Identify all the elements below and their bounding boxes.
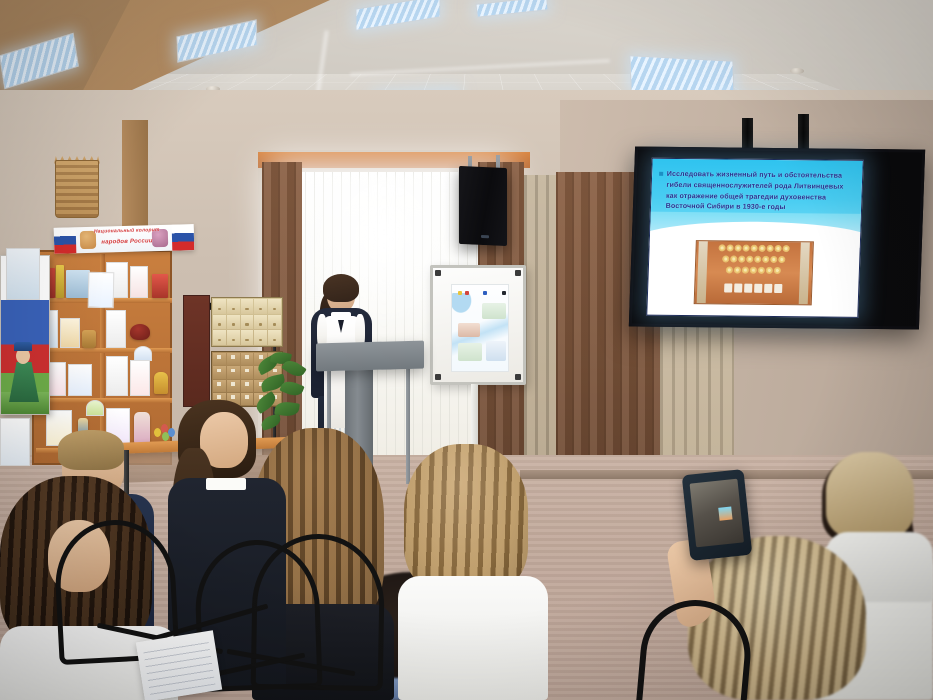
magnet-icon[interactable] — [502, 291, 506, 295]
catalog-drawer[interactable] — [213, 380, 226, 392]
catalog-drawer[interactable] — [213, 353, 226, 365]
smartphone[interactable] — [682, 469, 753, 561]
catalog-drawer[interactable] — [227, 330, 240, 345]
saint-halo-icon — [783, 245, 790, 252]
poster-girl-hat — [14, 342, 32, 351]
catalog-drawer[interactable] — [213, 366, 226, 378]
decor-egg — [154, 428, 161, 437]
phone-screen-preview-tv — [719, 506, 733, 520]
saint-halo-icon — [751, 245, 758, 252]
catalog-drawer[interactable] — [227, 353, 240, 365]
tv-screen: Исследовать жизненный путь и обстоятельс… — [646, 158, 864, 318]
display-fan — [86, 400, 104, 416]
whiteboard-poster — [451, 284, 509, 372]
display-book — [56, 265, 64, 298]
phone-screen — [690, 479, 744, 548]
magnet-icon[interactable] — [483, 291, 487, 295]
display-leaflet — [60, 318, 80, 348]
catalog-drawer[interactable] — [268, 315, 281, 330]
saint-halo-icon — [743, 245, 750, 252]
whiteboard-corner — [435, 270, 441, 276]
poster-church-icon — [486, 341, 506, 361]
presentation-room-scene: Исследовать жизненный путь и обстоятельс… — [0, 0, 933, 700]
hair — [826, 452, 914, 538]
icon-tunic — [744, 284, 752, 293]
wall-leaflet — [6, 248, 40, 300]
saint-halo-icon — [775, 245, 782, 252]
whiteboard-corner — [515, 374, 521, 380]
whiteboard-corner — [515, 270, 521, 276]
catalog-drawer[interactable] — [227, 380, 240, 392]
saint-halo-icon — [719, 245, 726, 252]
saint-halo-icon — [750, 267, 757, 274]
notes-paper[interactable] — [136, 630, 222, 700]
slide-bullet-icon — [659, 172, 663, 176]
poster-church-icon — [458, 343, 482, 361]
wall-mounted-tv[interactable]: Исследовать жизненный путь и обстоятельс… — [629, 147, 925, 330]
catalog-drawer[interactable] — [213, 330, 226, 345]
display-leaflet — [106, 356, 128, 396]
audience-member — [398, 444, 548, 700]
display-book — [66, 270, 90, 298]
saint-halo-icon — [759, 245, 766, 252]
saint-halo-icon — [723, 255, 730, 262]
poster-girl-dress — [9, 362, 39, 402]
catalog-drawer[interactable] — [241, 330, 254, 345]
smoke-detector-icon — [790, 68, 804, 74]
dark-cabinet — [183, 295, 210, 407]
podium — [316, 341, 424, 372]
catalog-drawer[interactable] — [227, 366, 240, 378]
saint-halo-icon — [742, 267, 749, 274]
icon-tunic — [764, 284, 772, 293]
icon-tunic — [774, 284, 782, 293]
magnet-icon[interactable] — [458, 291, 462, 295]
poster-church-icon — [482, 303, 506, 319]
whiteboard[interactable] — [430, 265, 526, 385]
display-book — [82, 330, 96, 348]
display-leaflet — [106, 310, 126, 348]
russian-flag-icon — [54, 227, 77, 254]
saint-halo-icon — [735, 245, 742, 252]
whiteboard-corner — [435, 374, 441, 380]
shelf-poster — [88, 272, 115, 308]
saint-halo-icon — [767, 245, 774, 252]
icon-tunic — [734, 284, 742, 293]
display-teapot — [130, 324, 150, 340]
catalog-drawer[interactable] — [254, 299, 267, 314]
saint-halo-icon — [747, 255, 754, 262]
display-doll — [154, 372, 168, 394]
saint-halo-icon — [734, 266, 741, 273]
saint-halo-icon — [763, 256, 770, 263]
display-fan — [134, 346, 152, 361]
saint-halo-icon — [726, 266, 733, 273]
collar — [206, 478, 246, 490]
catalog-drawer[interactable] — [227, 299, 240, 314]
saint-halo-icon — [774, 267, 781, 274]
exhibit-banner: Национальный колорит народов России — [54, 224, 195, 254]
display-leaflet — [130, 266, 148, 298]
display-book — [152, 274, 168, 298]
saint-halo-icon — [727, 245, 734, 252]
icon-tunic-row — [695, 283, 811, 293]
saint-halo-icon — [771, 256, 778, 263]
catalog-drawer[interactable] — [227, 315, 240, 330]
ceiling-speaker — [459, 166, 507, 246]
catalog-drawer[interactable] — [241, 315, 254, 330]
icon-tunic — [754, 284, 762, 293]
catalog-drawer[interactable] — [213, 315, 226, 330]
catalog-drawer[interactable] — [268, 299, 281, 314]
presenter-hair — [323, 274, 359, 302]
catalog-drawer[interactable] — [254, 315, 267, 330]
icon-halo-row — [696, 266, 812, 274]
catalog-drawer[interactable] — [213, 299, 226, 314]
torso — [398, 576, 548, 700]
magnet-icon[interactable] — [465, 291, 469, 295]
russian-flag-icon — [172, 224, 195, 251]
saint-halo-icon — [758, 267, 765, 274]
catalog-upper-drawers — [211, 297, 283, 347]
saint-halo-icon — [739, 255, 746, 262]
display-leaflet — [130, 360, 150, 396]
saint-halo-icon — [731, 255, 738, 262]
saint-halo-icon — [779, 256, 786, 263]
catalog-drawer[interactable] — [254, 330, 267, 345]
slide-icon-image — [694, 240, 814, 305]
speaker-led-icon — [481, 235, 489, 238]
catalog-drawer[interactable] — [241, 380, 254, 392]
icon-tunic — [724, 284, 732, 293]
saint-halo-icon — [755, 255, 762, 262]
catalog-drawer[interactable] — [241, 299, 254, 314]
catalog-drawer[interactable] — [268, 330, 281, 345]
display-leaflet — [68, 364, 92, 396]
catalog-drawer[interactable] — [241, 366, 254, 378]
hair — [404, 444, 528, 592]
saint-halo-icon — [766, 267, 773, 274]
bookcase-shelf — [36, 398, 172, 403]
icon-halo-row — [696, 255, 812, 263]
catalog-drawer[interactable] — [241, 353, 254, 365]
woven-basket — [55, 160, 99, 218]
slide-heading: Исследовать жизненный путь и обстоятельс… — [665, 170, 847, 215]
icon-halo-row — [697, 244, 813, 252]
wall-leaflet — [0, 418, 30, 466]
hair — [58, 430, 124, 470]
poster-church-icon — [458, 323, 480, 337]
